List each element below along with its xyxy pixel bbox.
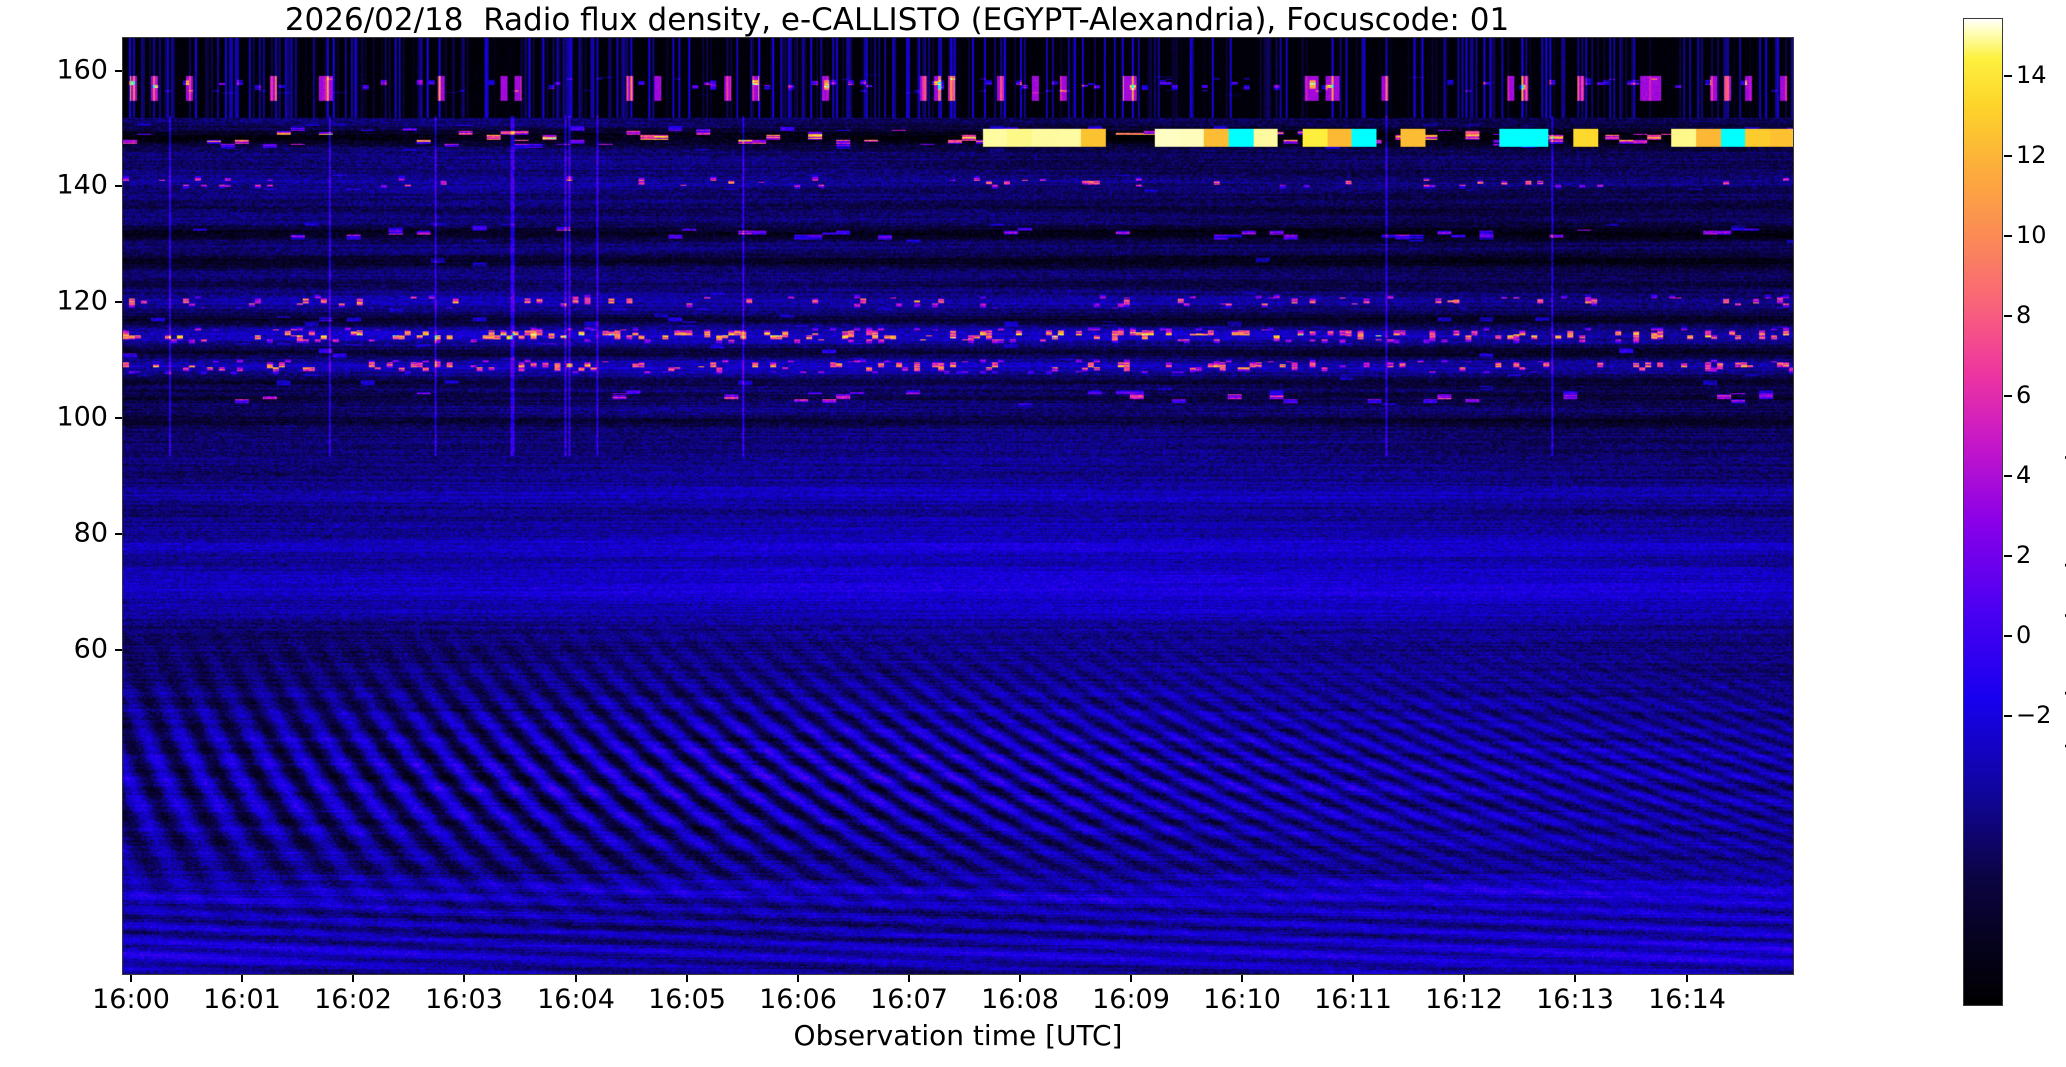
- x-axis-tick-mark: [1686, 975, 1688, 982]
- x-axis-tick-label: 16:11: [1314, 984, 1392, 1015]
- x-axis-tick-label: 16:04: [537, 984, 615, 1015]
- x-axis-tick-label: 16:06: [759, 984, 837, 1015]
- x-axis-tick-mark: [1019, 975, 1021, 982]
- x-axis-tick-label: 16:05: [648, 984, 726, 1015]
- x-axis-tick-mark: [241, 975, 243, 982]
- y-axis-tick-mark: [115, 185, 122, 187]
- y-axis-tick-label: 160: [56, 55, 108, 86]
- x-axis-tick-mark: [1352, 975, 1354, 982]
- colorbar-tick-mark: [2004, 555, 2012, 557]
- colorbar-tick-label: 8: [2016, 301, 2031, 329]
- colorbar-tick-mark: [2004, 395, 2012, 397]
- colorbar-tick-label: −2: [2016, 701, 2051, 729]
- y-axis-tick-mark: [115, 533, 122, 535]
- x-axis-tick-mark: [352, 975, 354, 982]
- x-axis-tick-label: 16:09: [1092, 984, 1170, 1015]
- y-axis-tick-mark: [115, 70, 122, 72]
- colorbar-tick-label: 10: [2016, 221, 2047, 249]
- x-axis-tick-mark: [575, 975, 577, 982]
- x-axis-tick-label: 16:10: [1203, 984, 1281, 1015]
- colorbar-tick-mark: [2004, 475, 2012, 477]
- x-axis-tick-mark: [797, 975, 799, 982]
- x-axis-tick-label: 16:13: [1536, 984, 1614, 1015]
- x-axis-tick-label: 16:07: [870, 984, 948, 1015]
- spectrogram-plot-area[interactable]: [122, 37, 1794, 975]
- colorbar-tick-label: 2: [2016, 541, 2031, 569]
- colorbar-tick-mark: [2004, 75, 2012, 77]
- x-axis-tick-mark: [1130, 975, 1132, 982]
- y-axis-tick-label: 60: [74, 634, 108, 665]
- colorbar-tick-label: 4: [2016, 461, 2031, 489]
- x-axis-tick-label: 16:00: [92, 984, 170, 1015]
- y-axis-tick-mark: [115, 649, 122, 651]
- colorbar-tick-mark: [2004, 235, 2012, 237]
- colorbar-label: dB above background: [2060, 454, 2066, 760]
- page-title: 2026/02/18 Radio flux density, e-CALLIST…: [0, 2, 1794, 38]
- x-axis-tick-label: 16:08: [981, 984, 1059, 1015]
- colorbar-tick-label: 12: [2016, 141, 2047, 169]
- x-axis-tick-label: 16:02: [314, 984, 392, 1015]
- y-axis-tick-label: 80: [74, 518, 108, 549]
- colorbar-tick-mark: [2004, 315, 2012, 317]
- x-axis-tick-label: 16:14: [1648, 984, 1726, 1015]
- x-axis-tick-mark: [1574, 975, 1576, 982]
- y-axis-tick-label: 100: [56, 402, 108, 433]
- colorbar-tick-label: 6: [2016, 381, 2031, 409]
- y-axis-tick-label: 120: [56, 286, 108, 317]
- colorbar-tick-mark: [2004, 155, 2012, 157]
- x-axis-tick-label: 16:03: [425, 984, 503, 1015]
- x-axis-label: Observation time [UTC]: [122, 1019, 1794, 1052]
- x-axis-tick-mark: [908, 975, 910, 982]
- x-axis-tick-label: 16:12: [1425, 984, 1503, 1015]
- y-axis-tick-label: 140: [56, 170, 108, 201]
- x-axis-tick-mark: [686, 975, 688, 982]
- x-axis-tick-mark: [1463, 975, 1465, 982]
- x-axis-tick-mark: [463, 975, 465, 982]
- spectrogram-figure: 2026/02/18 Radio flux density, e-CALLIST…: [0, 0, 2066, 1067]
- x-axis-tick-mark: [130, 975, 132, 982]
- x-axis-tick-mark: [1241, 975, 1243, 982]
- colorbar-tick-label: 14: [2016, 61, 2047, 89]
- y-axis-tick-mark: [115, 417, 122, 419]
- colorbar-gradient: [1963, 18, 2003, 1006]
- spectrogram-image: [123, 38, 1793, 974]
- colorbar-tick-label: 0: [2016, 621, 2031, 649]
- colorbar-tick-mark: [2004, 635, 2012, 637]
- x-axis-tick-label: 16:01: [203, 984, 281, 1015]
- y-axis-tick-mark: [115, 301, 122, 303]
- colorbar-tick-mark: [2004, 715, 2012, 717]
